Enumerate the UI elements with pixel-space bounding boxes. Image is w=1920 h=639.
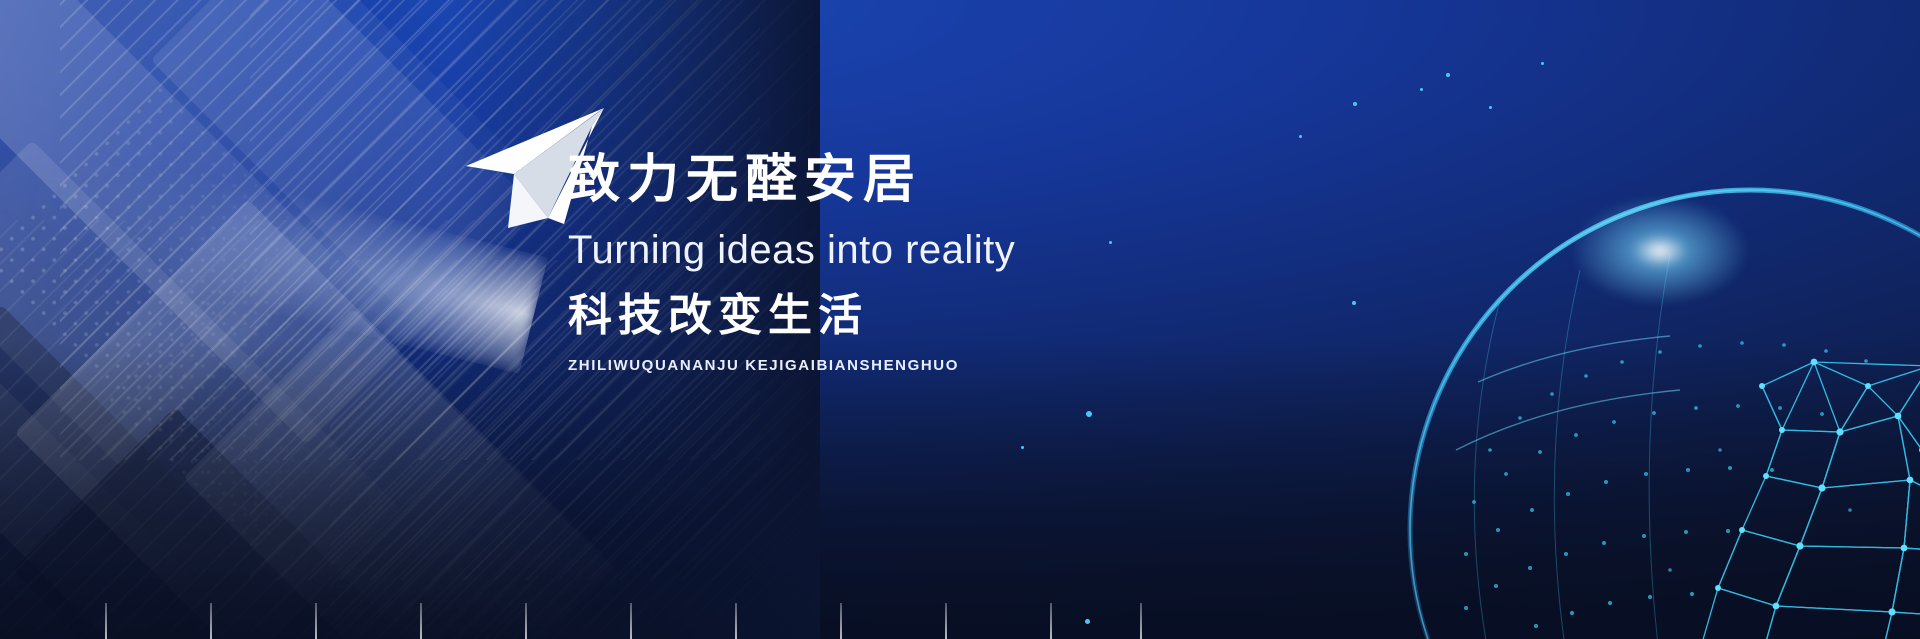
tick-mark [945, 603, 947, 639]
page-title: 致力无醛安居 [568, 150, 1015, 211]
sparkle-dot [1489, 106, 1492, 109]
banner-pinyin: ZHILIWUQUANANJU KEJIGAIBIANSHENGHUO [568, 357, 1015, 374]
hero-banner: 致力无醛安居 Turning ideas into reality 科技改变生活… [0, 0, 1920, 639]
sparkle-dot [1299, 135, 1302, 138]
tick-mark [315, 603, 317, 639]
tick-mark [840, 603, 842, 639]
tick-mark [1140, 603, 1142, 639]
sparkle-dot [1109, 241, 1112, 244]
sparkle-dot [1446, 73, 1450, 77]
banner-tagline: Turning ideas into reality [568, 223, 1015, 277]
diagonal-rectangle-5 [0, 275, 195, 639]
sparkle-dot [1420, 88, 1423, 91]
wireframe-globe-icon [1370, 150, 1920, 639]
bottom-tick-marks [0, 595, 1250, 639]
sparkle-dot [1353, 102, 1357, 106]
sparkle-dot [1541, 62, 1544, 65]
tick-mark [525, 603, 527, 639]
tick-mark [1050, 603, 1052, 639]
sparkle-dot [1021, 446, 1024, 449]
tick-mark [735, 603, 737, 639]
bottom-vignette [0, 339, 1920, 639]
sparkle-dot [1352, 301, 1356, 305]
sparkle-dot [1086, 411, 1092, 417]
banner-copy: 致力无醛安居 Turning ideas into reality 科技改变生活… [568, 150, 1015, 374]
tick-mark [420, 603, 422, 639]
diagonal-rectangle-dark-1 [0, 305, 305, 639]
tick-mark [210, 603, 212, 639]
globe-rim-glow [1570, 196, 1750, 306]
banner-subheading: 科技改变生活 [568, 289, 1015, 343]
tick-mark [630, 603, 632, 639]
tick-mark [105, 603, 107, 639]
